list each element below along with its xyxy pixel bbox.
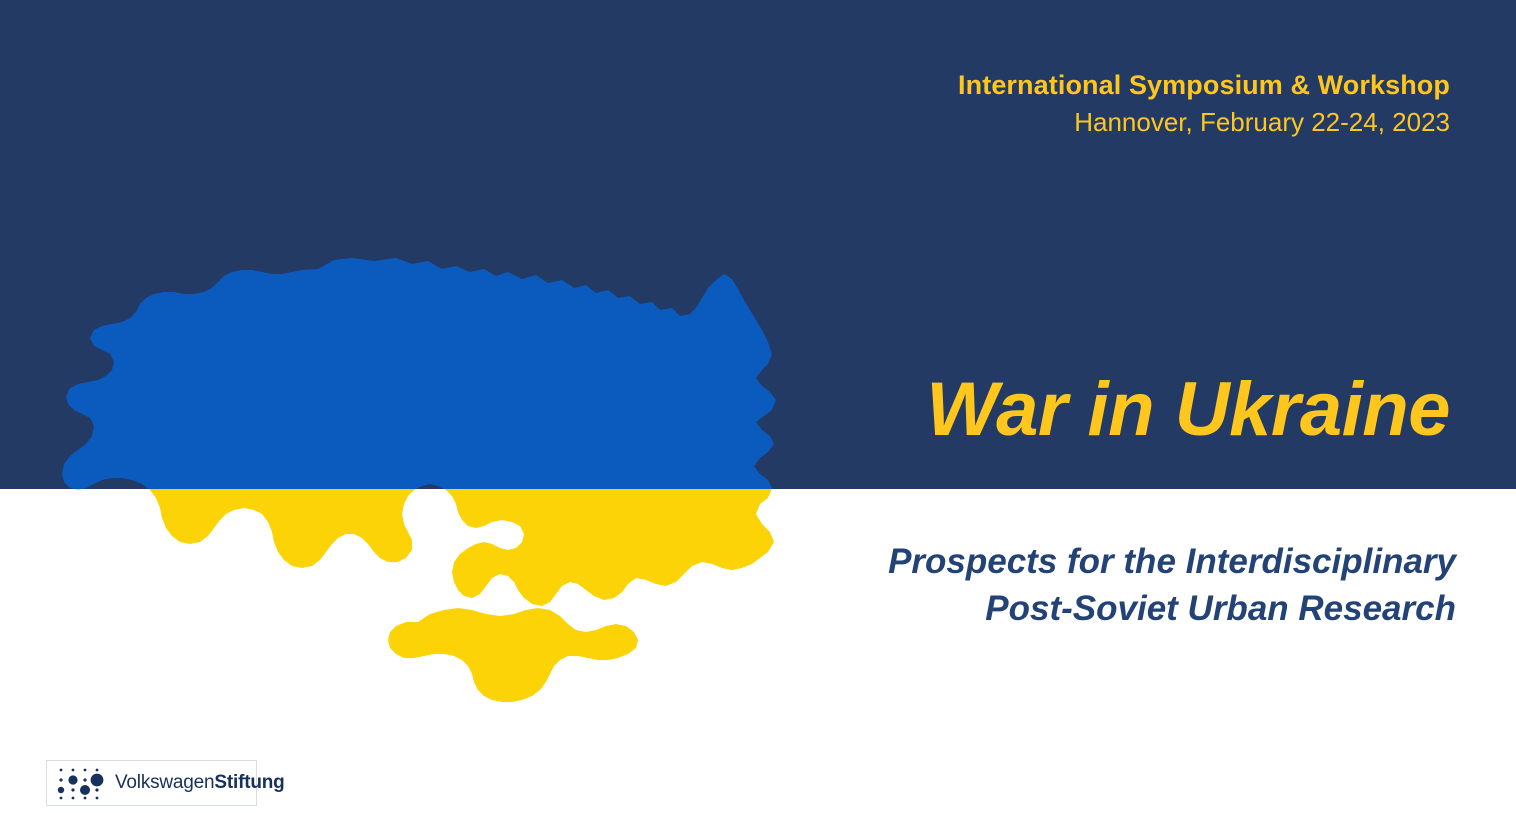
- page-subtitle: Prospects for the Interdisciplinary Post…: [888, 539, 1456, 633]
- logo-name-bold: Stiftung: [214, 772, 284, 793]
- volkswagenstiftung-logo: VolkswagenStiftung: [46, 760, 257, 806]
- subtitle-line-2: Post-Soviet Urban Research: [888, 586, 1456, 633]
- conference-poster: International Symposium & Workshop Hanno…: [0, 0, 1516, 813]
- subtitle-line-1: Prospects for the Interdisciplinary: [888, 539, 1456, 586]
- logo-name-light: Volkswagen: [115, 772, 214, 793]
- event-header: International Symposium & Workshop Hanno…: [958, 72, 1450, 135]
- event-type-label: International Symposium & Workshop: [958, 72, 1450, 99]
- event-location-date-label: Hannover, February 22-24, 2023: [958, 109, 1450, 135]
- ukraine-map: [56, 252, 801, 744]
- logo-wordmark: VolkswagenStiftung: [115, 772, 285, 794]
- page-title: War in Ukraine: [926, 372, 1450, 448]
- dot-grid-icon: [56, 766, 108, 800]
